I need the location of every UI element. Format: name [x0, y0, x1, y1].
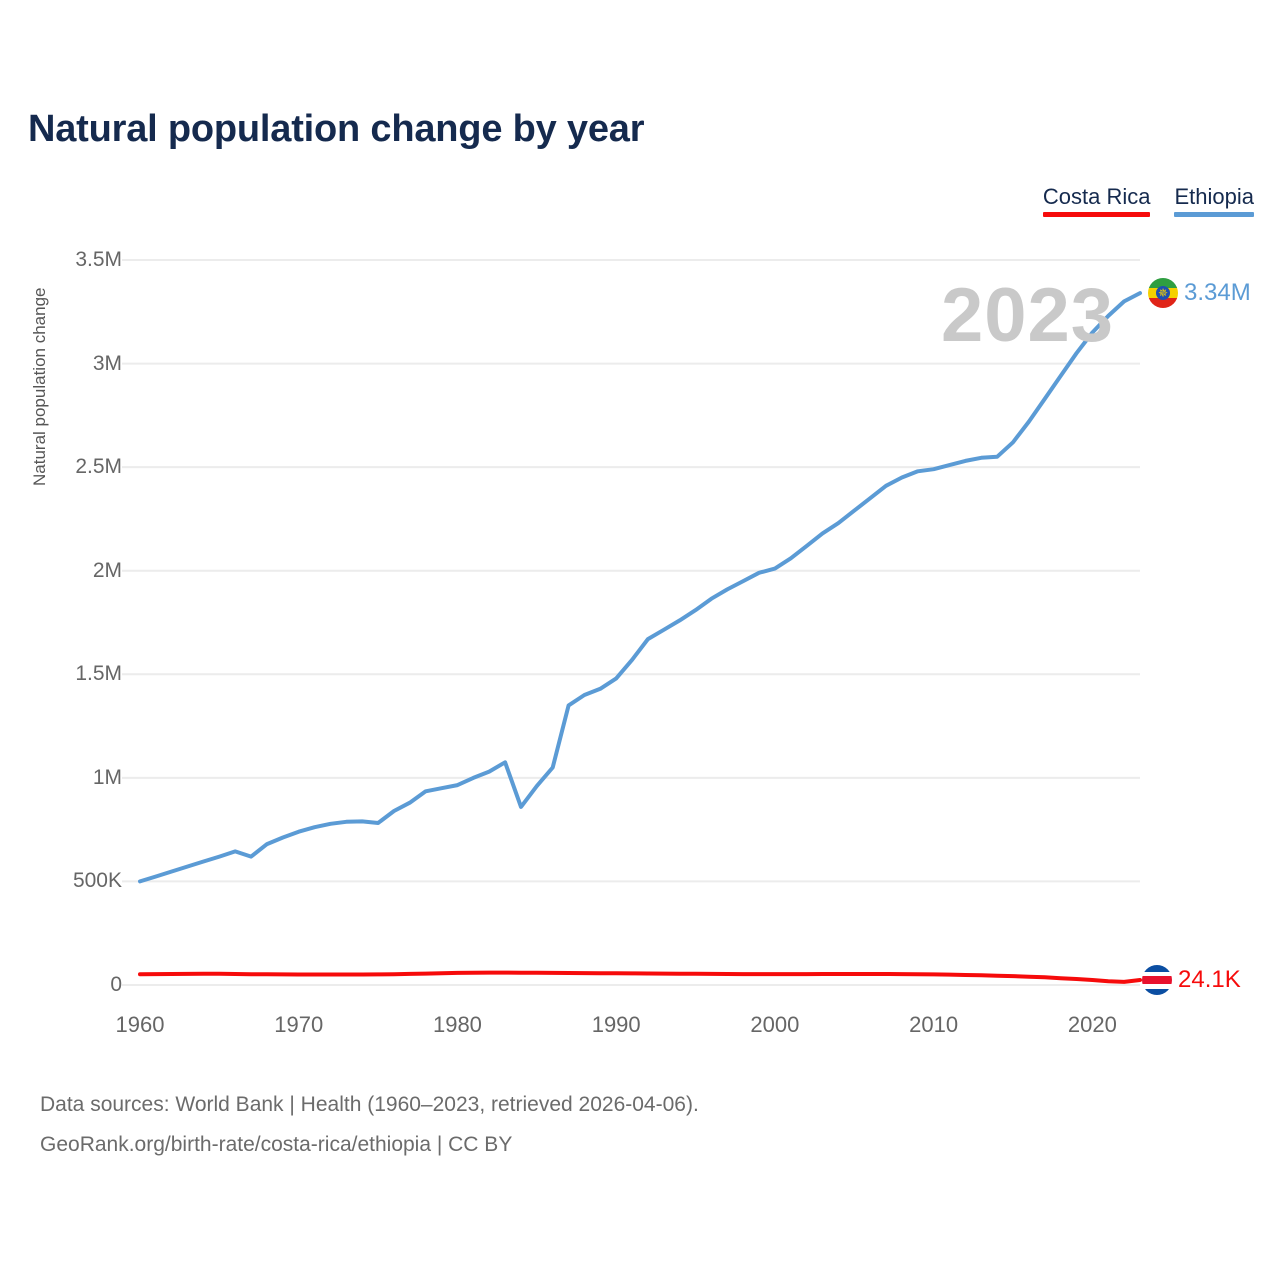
footer: Data sources: World Bank | Health (1960–… [40, 1085, 699, 1165]
costa-rica-flag-icon [1142, 965, 1172, 995]
endpoint-ethiopia: ✵ 3.34M [1148, 278, 1251, 308]
x-tick-label: 2010 [909, 1012, 958, 1038]
x-tick-label: 2000 [750, 1012, 799, 1038]
endpoint-costa-rica: 24.1K [1142, 965, 1241, 995]
series-line-ethiopia [140, 293, 1140, 881]
x-tick-label: 1970 [274, 1012, 323, 1038]
x-tick-label: 2020 [1068, 1012, 1117, 1038]
footer-attribution: GeoRank.org/birth-rate/costa-rica/ethiop… [40, 1125, 699, 1165]
year-watermark: 2023 [941, 272, 1114, 359]
ethiopia-flag-icon: ✵ [1148, 278, 1178, 308]
chart-page: Natural population change by year Costa … [0, 0, 1280, 1280]
x-tick-label: 1990 [592, 1012, 641, 1038]
footer-data-sources: Data sources: World Bank | Health (1960–… [40, 1085, 699, 1125]
endpoint-value-costa-rica: 24.1K [1178, 966, 1241, 994]
gridlines [122, 260, 1140, 985]
x-tick-label: 1960 [116, 1012, 165, 1038]
x-tick-label: 1980 [433, 1012, 482, 1038]
series-line-costa-rica [140, 973, 1140, 982]
endpoint-value-ethiopia: 3.34M [1184, 279, 1251, 307]
